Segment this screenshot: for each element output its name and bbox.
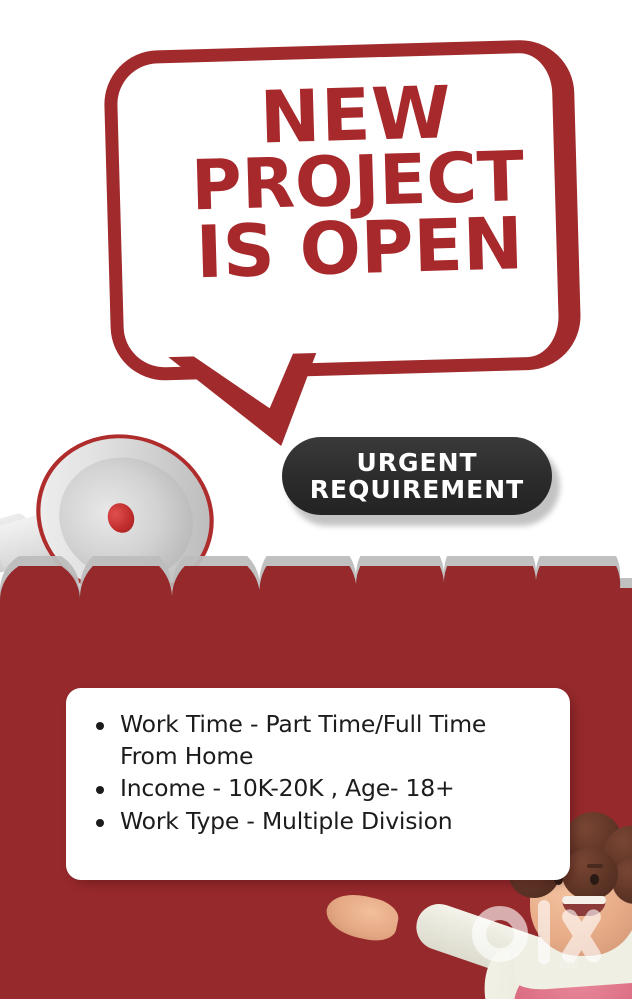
olx-watermark: IND [468, 898, 618, 972]
character-eyebrow-right [587, 864, 603, 868]
speech-bubble-tail-fill [178, 346, 297, 411]
scalloped-wave-divider [0, 566, 632, 636]
headline-text: NEW PROJECT IS OPEN [145, 76, 570, 288]
character-eye-right [590, 874, 599, 885]
list-item: Work Type - Multiple Division [92, 805, 552, 837]
olx-letter-l-icon [538, 900, 550, 964]
olx-watermark-sub: IND [560, 960, 579, 970]
badge-line-1: URGENT [356, 449, 477, 476]
speech-bubble: NEW PROJECT IS OPEN [95, 33, 605, 427]
list-item: Income - 10K-20K , Age- 18+ [92, 772, 552, 804]
job-details-list: Work Time - Part Time/Full Time From Hom… [92, 708, 552, 837]
speech-bubble-body: NEW PROJECT IS OPEN [103, 39, 582, 382]
list-item: Work Time - Part Time/Full Time From Hom… [92, 708, 552, 772]
headline-line-3: IS OPEN [149, 208, 571, 287]
olx-letter-o-icon [472, 906, 528, 962]
character-hand [322, 889, 401, 945]
job-details-card: Work Time - Part Time/Full Time From Hom… [66, 688, 570, 880]
urgent-requirement-badge: URGENT REQUIREMENT [282, 437, 552, 515]
job-advertisement-poster: NEW PROJECT IS OPEN URGENT REQUIREMENT [0, 0, 632, 999]
olx-letter-x-icon [554, 908, 612, 964]
badge-line-2: REQUIREMENT [310, 476, 524, 503]
